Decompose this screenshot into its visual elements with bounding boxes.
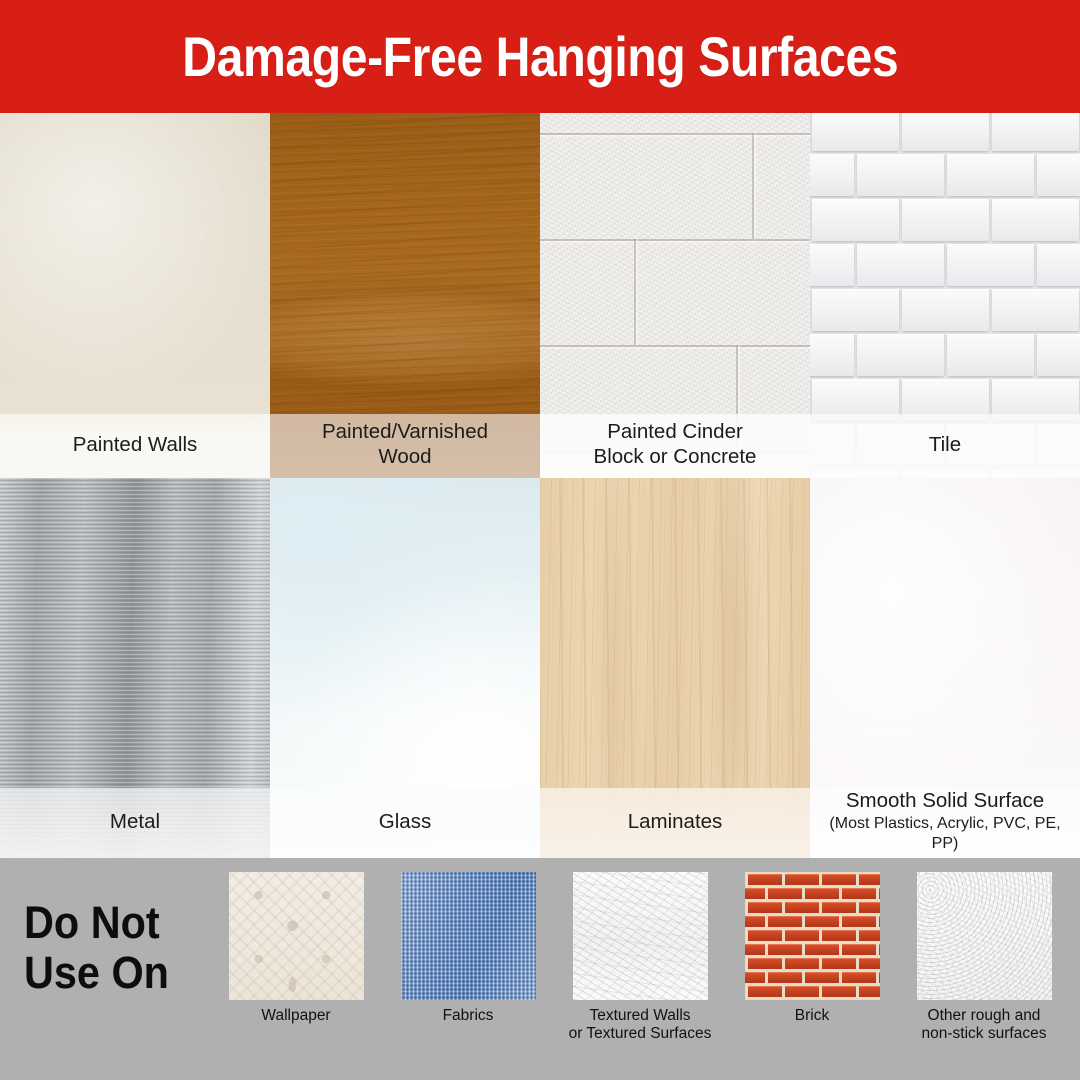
do-not-use-label-brick: Brick bbox=[795, 1007, 829, 1025]
brick-unit bbox=[745, 916, 765, 927]
brick-unit bbox=[842, 888, 876, 899]
brick-unit bbox=[842, 944, 876, 955]
surface-label-main: Smooth Solid Surface bbox=[816, 788, 1074, 813]
textured-plaster-texture bbox=[573, 872, 708, 1000]
do-not-use-item-brick[interactable]: Brick bbox=[726, 872, 898, 1072]
brick-unit bbox=[822, 874, 856, 885]
brick-unit bbox=[842, 972, 876, 983]
brick-unit bbox=[859, 874, 880, 885]
brick-unit bbox=[748, 874, 782, 885]
tile-unit bbox=[1037, 244, 1080, 286]
surface-cell-painted-varnished-wood[interactable]: Painted/Varnished Wood bbox=[270, 113, 540, 478]
surface-cell-tile[interactable]: Tile bbox=[810, 113, 1080, 478]
tile-unit bbox=[810, 154, 854, 196]
surface-cell-painted-cinder-block[interactable]: Painted Cinder Block or Concrete bbox=[540, 113, 810, 478]
brick-unit bbox=[805, 888, 839, 899]
tile-unit bbox=[810, 244, 854, 286]
surface-label-glass: Glass bbox=[270, 788, 540, 858]
tile-unit bbox=[812, 199, 899, 241]
surface-label-painted-varnished-wood: Painted/Varnished Wood bbox=[270, 414, 540, 478]
tile-unit bbox=[857, 334, 944, 376]
brick-unit bbox=[748, 930, 782, 941]
tile-unit bbox=[1037, 154, 1080, 196]
surface-cell-painted-walls[interactable]: Painted Walls bbox=[0, 113, 270, 478]
cinder-mortar-line bbox=[540, 239, 810, 241]
brick-unit bbox=[859, 986, 880, 997]
brick-unit bbox=[785, 930, 819, 941]
page-title: Damage-Free Hanging Surfaces bbox=[182, 24, 898, 89]
brick-unit bbox=[785, 902, 819, 913]
do-not-use-swatch-list: Wallpaper Fabrics Textured Walls or Text… bbox=[210, 872, 1070, 1072]
brick-unit bbox=[805, 944, 839, 955]
cinder-mortar-joint bbox=[752, 133, 754, 239]
tile-unit bbox=[857, 244, 944, 286]
brick-unit bbox=[768, 972, 802, 983]
do-not-use-item-wallpaper[interactable]: Wallpaper bbox=[210, 872, 382, 1072]
infographic-page: Damage-Free Hanging Surfaces Painted Wal… bbox=[0, 0, 1080, 1080]
wallpaper-damask-texture bbox=[229, 872, 364, 1000]
surface-label-laminates: Laminates bbox=[540, 788, 810, 858]
tile-unit bbox=[947, 244, 1034, 286]
brick-unit bbox=[879, 972, 880, 983]
brick-unit bbox=[805, 972, 839, 983]
approved-surfaces-grid: Painted Walls Painted/Varnished Wood Pai… bbox=[0, 113, 1080, 858]
tile-unit bbox=[857, 154, 944, 196]
do-not-use-title: Do Not Use On bbox=[24, 898, 199, 998]
red-brick-texture bbox=[745, 872, 880, 1000]
header-banner: Damage-Free Hanging Surfaces bbox=[0, 0, 1080, 113]
do-not-use-item-textured-walls[interactable]: Textured Walls or Textured Surfaces bbox=[554, 872, 726, 1072]
surface-cell-glass[interactable]: Glass bbox=[270, 478, 540, 858]
surface-label-smooth-solid-surface: Smooth Solid Surface (Most Plastics, Acr… bbox=[810, 788, 1080, 858]
brick-unit bbox=[748, 902, 782, 913]
do-not-use-label-other-rough: Other rough and non-stick surfaces bbox=[922, 1007, 1047, 1043]
tile-unit bbox=[902, 289, 989, 331]
tile-unit bbox=[947, 154, 1034, 196]
tile-unit bbox=[812, 289, 899, 331]
surface-label-painted-walls: Painted Walls bbox=[0, 414, 270, 478]
do-not-use-item-fabrics[interactable]: Fabrics bbox=[382, 872, 554, 1072]
brick-unit bbox=[745, 972, 765, 983]
brick-unit bbox=[785, 958, 819, 969]
brick-unit bbox=[879, 888, 880, 899]
brick-unit bbox=[785, 874, 819, 885]
do-not-use-label-textured-walls: Textured Walls or Textured Surfaces bbox=[569, 1007, 712, 1043]
surface-cell-metal[interactable]: Metal bbox=[0, 478, 270, 858]
tile-unit bbox=[992, 289, 1079, 331]
brick-unit bbox=[822, 986, 856, 997]
brick-unit bbox=[879, 916, 880, 927]
brick-unit bbox=[842, 916, 876, 927]
brick-unit bbox=[745, 944, 765, 955]
surface-label-sub: (Most Plastics, Acrylic, PVC, PE, PP) bbox=[816, 814, 1074, 854]
tile-unit bbox=[992, 199, 1079, 241]
tile-unit bbox=[812, 113, 899, 151]
tile-unit bbox=[992, 113, 1079, 151]
tile-unit bbox=[1037, 334, 1080, 376]
tile-unit bbox=[902, 199, 989, 241]
brick-unit bbox=[805, 916, 839, 927]
do-not-use-label-wallpaper: Wallpaper bbox=[261, 1007, 330, 1025]
brick-unit bbox=[748, 958, 782, 969]
brick-unit bbox=[768, 944, 802, 955]
denim-fabric-texture bbox=[401, 872, 536, 1000]
do-not-use-label-fabrics: Fabrics bbox=[443, 1007, 494, 1025]
cinder-mortar-line bbox=[540, 133, 810, 135]
brick-unit bbox=[859, 958, 880, 969]
surface-label-painted-cinder-block: Painted Cinder Block or Concrete bbox=[540, 414, 810, 478]
brick-unit bbox=[745, 888, 765, 899]
tile-unit bbox=[947, 334, 1034, 376]
cinder-mortar-line bbox=[540, 345, 810, 347]
brick-unit bbox=[822, 930, 856, 941]
brick-unit bbox=[879, 944, 880, 955]
brick-unit bbox=[768, 916, 802, 927]
brick-unit bbox=[768, 888, 802, 899]
surface-label-tile: Tile bbox=[810, 414, 1080, 478]
surface-cell-laminates[interactable]: Laminates bbox=[540, 478, 810, 858]
tile-unit bbox=[810, 334, 854, 376]
brick-unit bbox=[785, 986, 819, 997]
cinder-mortar-joint bbox=[634, 239, 636, 345]
brick-unit bbox=[822, 902, 856, 913]
do-not-use-section: Do Not Use On Wallpaper Fabrics Textured… bbox=[0, 858, 1080, 1080]
brick-unit bbox=[859, 930, 880, 941]
do-not-use-item-other-rough[interactable]: Other rough and non-stick surfaces bbox=[898, 872, 1070, 1072]
brick-unit bbox=[859, 902, 880, 913]
brick-unit bbox=[822, 958, 856, 969]
rough-stipple-texture bbox=[917, 872, 1052, 1000]
surface-cell-smooth-solid-surface[interactable]: Smooth Solid Surface (Most Plastics, Acr… bbox=[810, 478, 1080, 858]
brick-unit bbox=[748, 986, 782, 997]
tile-unit bbox=[902, 113, 989, 151]
surface-label-metal: Metal bbox=[0, 788, 270, 858]
